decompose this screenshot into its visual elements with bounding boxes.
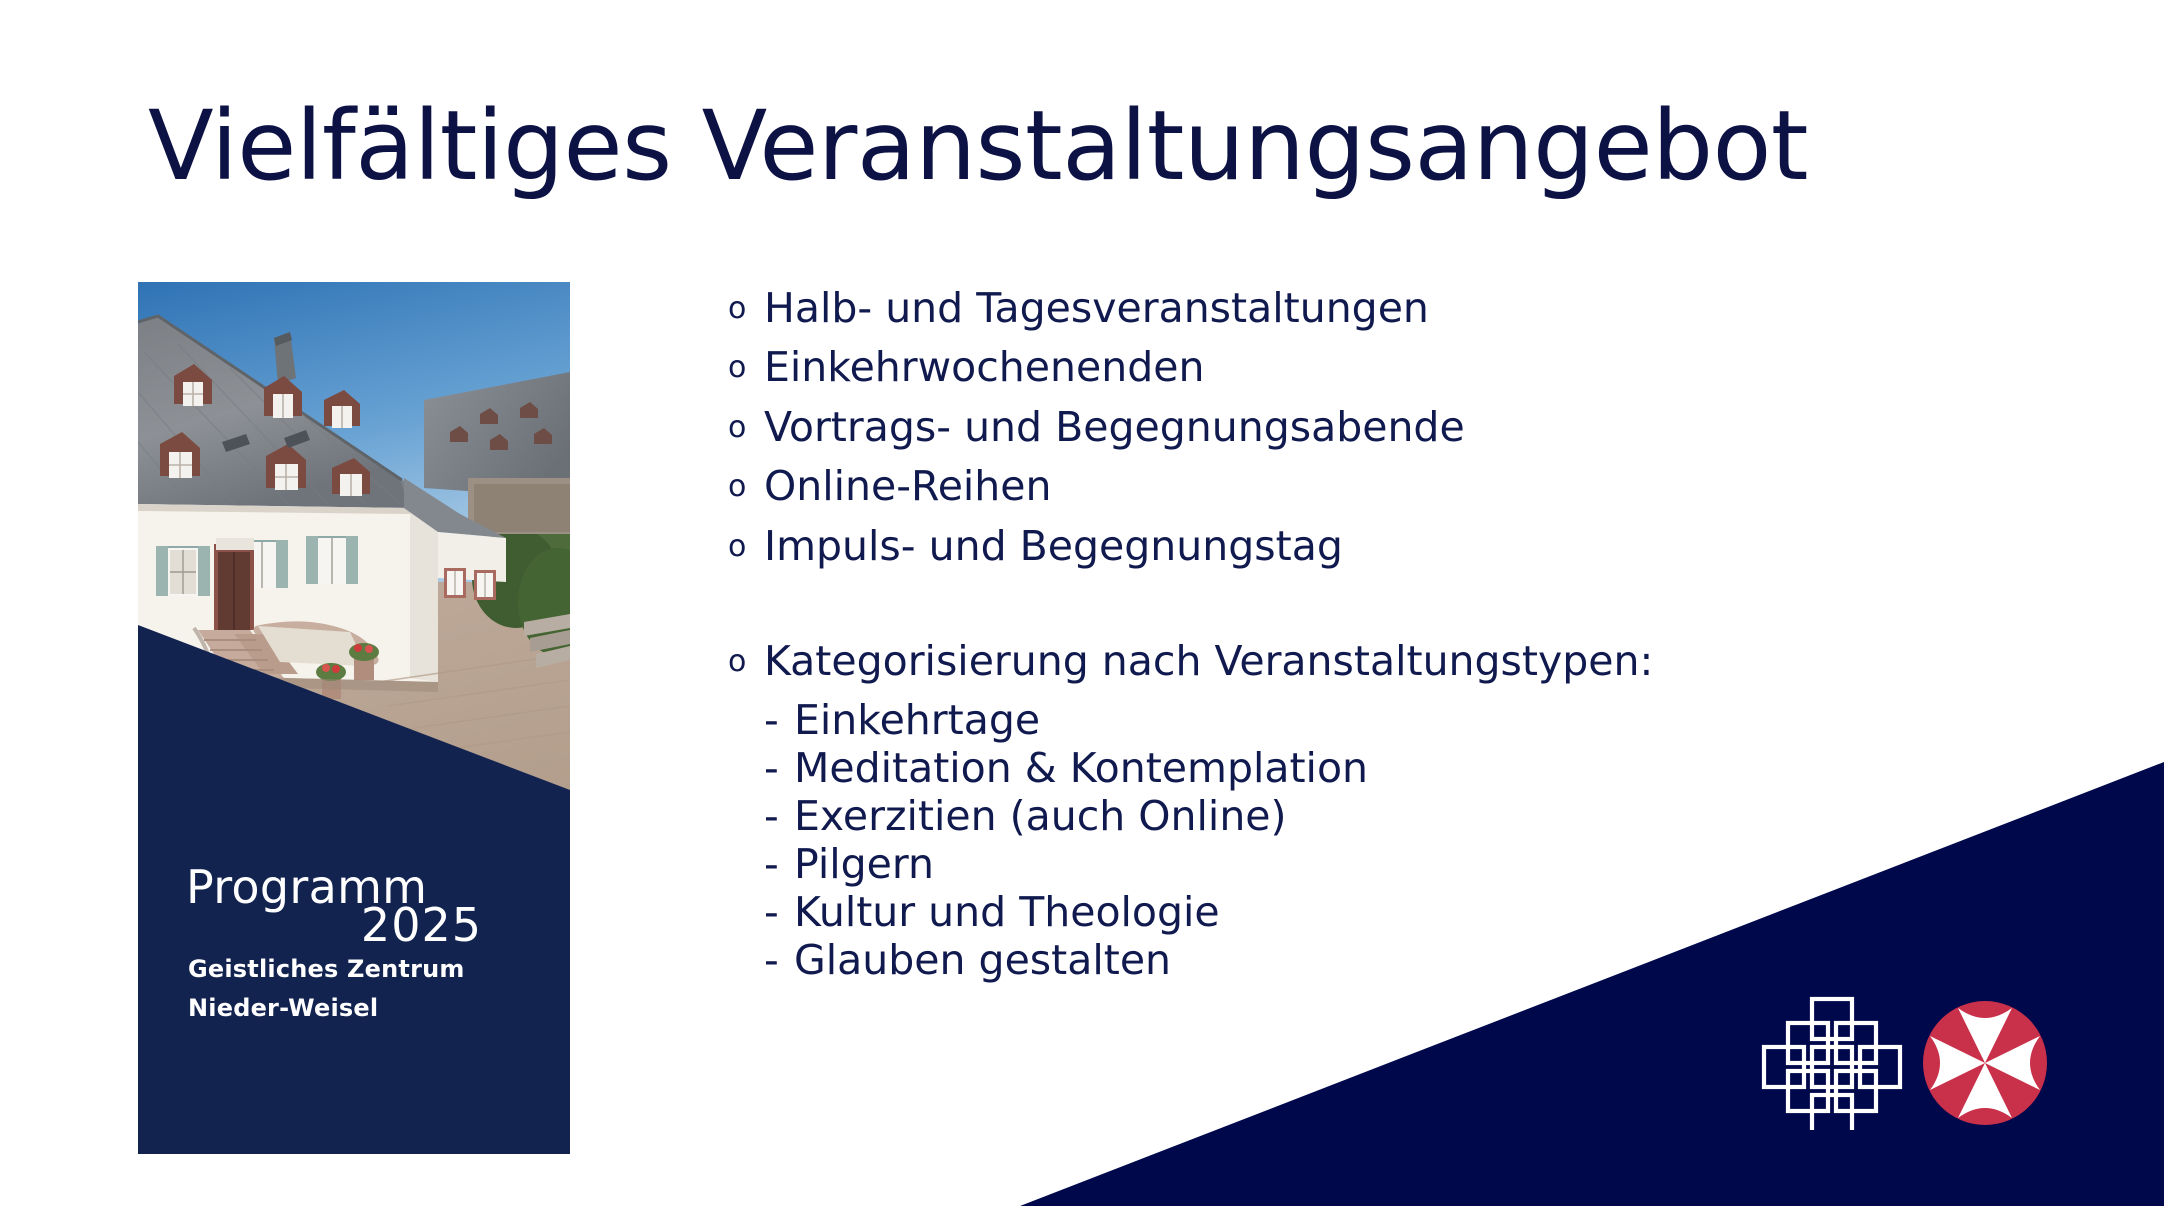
- list-group-spacer: [728, 585, 2028, 641]
- bullet-marker-icon: o: [728, 641, 764, 682]
- johanniter-squares-cross-icon: [1764, 999, 1900, 1130]
- dash-marker-icon: -: [764, 940, 794, 981]
- sub-list-item-label: Einkehrtage: [794, 700, 1040, 741]
- sub-list-item-label: Kultur und Theologie: [794, 892, 1220, 933]
- sub-list-item: - Exerzitien (auch Online): [728, 796, 2028, 837]
- bullet-marker-icon: o: [728, 407, 764, 448]
- bullet-marker-icon: o: [728, 347, 764, 388]
- sub-list-item: - Einkehrtage: [728, 700, 2028, 741]
- sub-list-item: - Kultur und Theologie: [728, 892, 2028, 933]
- maltese-cross-icon: [1923, 1001, 2047, 1125]
- list-item-label: Impuls- und Begegnungstag: [764, 526, 1343, 567]
- bullet-marker-icon: o: [728, 466, 764, 507]
- sub-list-item: - Pilgern: [728, 844, 2028, 885]
- dash-marker-icon: -: [764, 700, 794, 741]
- dash-marker-icon: -: [764, 892, 794, 933]
- brochure-org-line-2: Nieder-Weisel: [188, 996, 378, 1020]
- list-item-label: Kategorisierung nach Veranstaltungstypen…: [764, 641, 1653, 682]
- brochure-cover-card: Programm 2025 Geistliches Zentrum Nieder…: [138, 282, 570, 1154]
- list-item: o Vortrags- und Begegnungsabende: [728, 407, 2028, 448]
- sub-list-item: - Glauben gestalten: [728, 940, 2028, 981]
- dash-marker-icon: -: [764, 796, 794, 837]
- list-item-label: Einkehrwochenenden: [764, 347, 1204, 388]
- brochure-org-line-1: Geistliches Zentrum: [188, 957, 465, 981]
- presentation-slide: Vielfältiges Veranstaltungsangebot: [0, 0, 2164, 1206]
- brochure-text-block: Programm 2025 Geistliches Zentrum Nieder…: [138, 282, 570, 1154]
- content-bullet-list: o Halb- und Tagesveranstaltungen o Einke…: [728, 288, 2028, 988]
- list-item-label: Halb- und Tagesveranstaltungen: [764, 288, 1429, 329]
- bullet-marker-icon: o: [728, 288, 764, 329]
- category-sub-list: - Einkehrtage - Meditation & Kontemplati…: [728, 700, 2028, 981]
- list-item: o Einkehrwochenenden: [728, 347, 2028, 388]
- list-item: o Online-Reihen: [728, 466, 2028, 507]
- sub-list-item-label: Meditation & Kontemplation: [794, 748, 1368, 789]
- dash-marker-icon: -: [764, 748, 794, 789]
- sub-list-item-label: Exerzitien (auch Online): [794, 796, 1287, 837]
- sub-list-item-label: Glauben gestalten: [794, 940, 1171, 981]
- list-item: o Halb- und Tagesveranstaltungen: [728, 288, 2028, 329]
- dash-marker-icon: -: [764, 844, 794, 885]
- list-item: o Impuls- und Begegnungstag: [728, 526, 2028, 567]
- sub-list-item-label: Pilgern: [794, 844, 934, 885]
- page-title: Vielfältiges Veranstaltungsangebot: [148, 96, 2048, 197]
- bullet-marker-icon: o: [728, 526, 764, 567]
- list-item-label: Online-Reihen: [764, 466, 1052, 507]
- sub-list-item: - Meditation & Kontemplation: [728, 748, 2028, 789]
- brochure-year: 2025: [186, 902, 482, 948]
- corner-logo-group: [1760, 995, 2050, 1130]
- list-item-label: Vortrags- und Begegnungsabende: [764, 407, 1465, 448]
- list-item-category-heading: o Kategorisierung nach Veranstaltungstyp…: [728, 641, 2028, 682]
